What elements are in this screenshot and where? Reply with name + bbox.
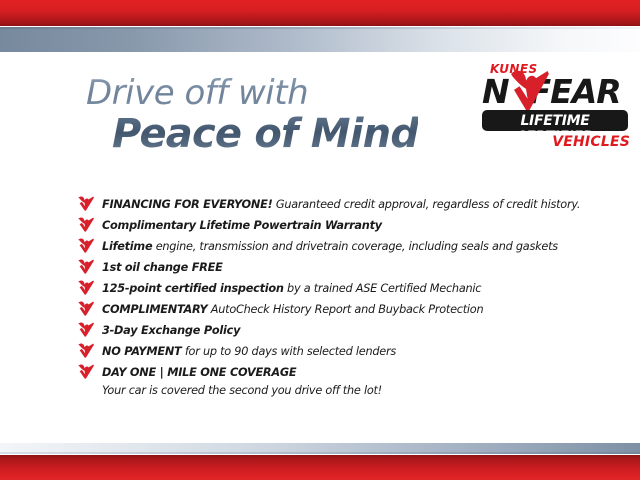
logo-wordmark: NFEAR — [482, 75, 621, 108]
top-red-bar — [0, 0, 640, 26]
logo-letter-n: N — [482, 72, 509, 111]
heart-check-icon — [78, 301, 95, 316]
list-item-bold: DAY ONE | MILE ONE COVERAGE — [102, 366, 296, 379]
list-item-rest: AutoCheck History Report and Buyback Pro… — [207, 303, 483, 316]
benefits-list: FINANCING FOR EVERYONE! Guaranteed credi… — [78, 194, 618, 399]
logo-word-fear: FEAR — [529, 72, 621, 111]
headline: Drive off with Peace of Mind — [86, 76, 418, 154]
list-item-bold: 1st oil change FREE — [102, 261, 223, 274]
list-item: NO PAYMENT for up to 90 days with select… — [78, 341, 618, 362]
heart-check-icon — [78, 364, 95, 379]
list-item-bold: COMPLIMENTARY — [102, 303, 207, 316]
headline-line-2: Peace of Mind — [112, 114, 418, 154]
list-item-text: Lifetime engine, transmission and drivet… — [102, 236, 618, 257]
promo-banner: Drive off with Peace of Mind KUNES NFEAR… — [0, 0, 640, 480]
list-item-rest: engine, transmission and drivetrain cove… — [152, 240, 558, 253]
list-item-bold: Lifetime — [102, 240, 152, 253]
list-item-text: 125-point certified inspection by a trai… — [102, 278, 618, 299]
list-item-rest: for up to 90 days with selected lenders — [181, 345, 396, 358]
kunes-no-fear-logo: KUNES NFEAR LIFETIME CERTIFIED VEHICLES — [479, 62, 631, 157]
list-item-text: Complimentary Lifetime Powertrain Warran… — [102, 215, 618, 236]
top-gray-bar — [0, 27, 640, 52]
list-item-text: 3-Day Exchange Policy — [102, 320, 618, 341]
bottom-red-bar — [0, 455, 640, 480]
list-item-bold: FINANCING FOR EVERYONE! — [102, 198, 272, 211]
logo-band-text: LIFETIME CERTIFIED — [482, 113, 628, 131]
list-item-bold: Complimentary Lifetime Powertrain Warran… — [102, 219, 382, 232]
list-item: FINANCING FOR EVERYONE! Guaranteed credi… — [78, 194, 618, 215]
list-item-bold: NO PAYMENT — [102, 345, 181, 358]
list-item: COMPLIMENTARY AutoCheck History Report a… — [78, 299, 618, 320]
heart-check-icon — [78, 217, 95, 232]
heart-check-icon — [78, 322, 95, 337]
heart-check-icon — [78, 196, 95, 211]
heart-check-icon — [78, 343, 95, 358]
bottom-gray-bar — [0, 443, 640, 454]
list-item-bold: 125-point certified inspection — [102, 282, 284, 295]
list-item: DAY ONE | MILE ONE COVERAGE — [78, 362, 618, 383]
heart-check-icon — [78, 280, 95, 295]
list-item-text: COMPLIMENTARY AutoCheck History Report a… — [102, 299, 618, 320]
heart-check-icon — [78, 238, 95, 253]
list-item-rest: Guaranteed credit approval, regardless o… — [272, 198, 580, 211]
list-item: Complimentary Lifetime Powertrain Warran… — [78, 215, 618, 236]
list-item-text: DAY ONE | MILE ONE COVERAGE — [102, 362, 618, 383]
list-item-text: FINANCING FOR EVERYONE! Guaranteed credi… — [102, 194, 618, 215]
logo-band: LIFETIME CERTIFIED — [482, 110, 628, 131]
list-item: 1st oil change FREE — [78, 257, 618, 278]
logo-suffix-vehicles: VEHICLES — [552, 134, 630, 150]
heart-check-icon — [78, 259, 95, 274]
list-item: Lifetime engine, transmission and drivet… — [78, 236, 618, 257]
list-item-text: 1st oil change FREE — [102, 257, 618, 278]
list-item-subtext: Your car is covered the second you drive… — [78, 383, 618, 399]
list-item: 3-Day Exchange Policy — [78, 320, 618, 341]
headline-line-1: Drive off with — [86, 76, 418, 110]
list-item-rest: by a trained ASE Certified Mechanic — [284, 282, 482, 295]
list-item-bold: 3-Day Exchange Policy — [102, 324, 240, 337]
list-item: 125-point certified inspection by a trai… — [78, 278, 618, 299]
list-item-text: NO PAYMENT for up to 90 days with select… — [102, 341, 618, 362]
